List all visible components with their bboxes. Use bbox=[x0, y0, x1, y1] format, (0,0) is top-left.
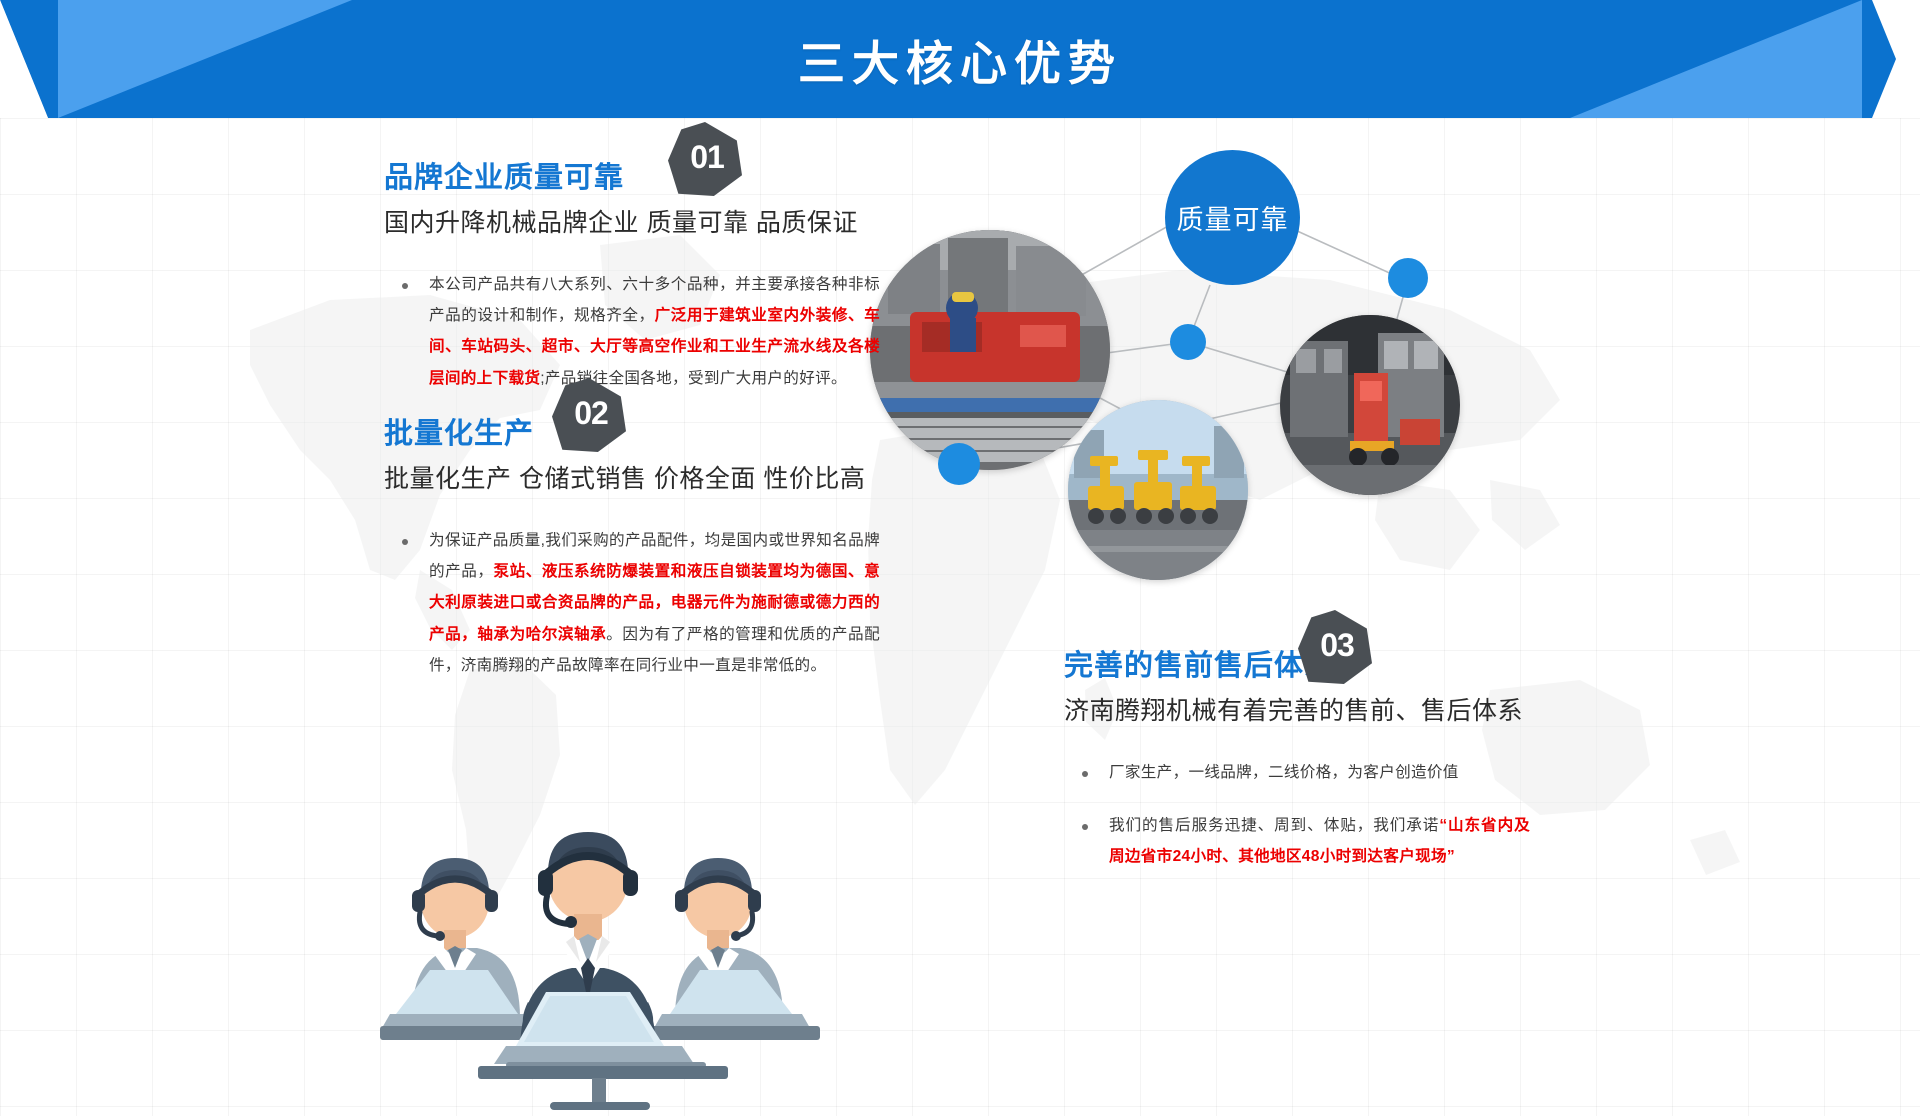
advantage-section-02: 批量化生产 02 批量化生产 仓储式销售 价格全面 性价比高 为保证产品质量,我… bbox=[380, 396, 940, 703]
section-03-bullet-list: 厂家生产，一线品牌，二线价格，为客户创造价值 我们的售后服务迅捷、周到、体贴，我… bbox=[1060, 757, 1620, 873]
section-03-subtitle: 济南腾翔机械有着完善的售前、售后体系 bbox=[1064, 691, 1620, 727]
section-01-number-badge: 01 bbox=[668, 122, 742, 196]
list-item: 我们的售后服务迅捷、周到、体贴，我们承诺“山东省内及周边省市24小时、其他地区4… bbox=[1060, 810, 1530, 872]
section-01-bullet-list: 本公司产品共有八大系列、六十多个品种，并主要承接各种非标产品的设计和制作，规格齐… bbox=[380, 269, 940, 394]
section-01-head-row: 品牌企业质量可靠 01 bbox=[380, 140, 940, 196]
section-02-number: 02 bbox=[574, 395, 608, 432]
section-02-title: 批量化生产 bbox=[384, 410, 534, 452]
page-title: 三大核心优势 bbox=[0, 0, 1920, 118]
page-header-banner: 三大核心优势 bbox=[0, 0, 1920, 118]
list-item: 厂家生产，一线品牌，二线价格，为客户创造价值 bbox=[1060, 757, 1530, 788]
section-01-title: 品牌企业质量可靠 bbox=[384, 154, 624, 196]
advantage-section-03: 完善的售前售后体系 03 济南腾翔机械有着完善的售前、售后体系 厂家生产，一线品… bbox=[1060, 628, 1620, 895]
section-01-number: 01 bbox=[690, 139, 724, 176]
advantage-section-01: 品牌企业质量可靠 01 国内升降机械品牌企业 质量可靠 品质保证 本公司产品共有… bbox=[380, 140, 940, 416]
section-02-subtitle: 批量化生产 仓储式销售 价格全面 性价比高 bbox=[384, 459, 940, 495]
body-text: 我们的售后服务迅捷、周到、体贴，我们承诺 bbox=[1109, 817, 1439, 834]
section-03-head-row: 完善的售前售后体系 03 bbox=[1060, 628, 1620, 684]
section-02-bullet-list: 为保证产品质量,我们采购的产品配件，均是国内或世界知名品牌的产品，泵站、液压系统… bbox=[380, 525, 940, 681]
list-item: 本公司产品共有八大系列、六十多个品种，并主要承接各种非标产品的设计和制作，规格齐… bbox=[380, 269, 880, 394]
section-03-title: 完善的售前售后体系 bbox=[1064, 642, 1334, 684]
body-text: 厂家生产，一线品牌，二线价格，为客户创造价值 bbox=[1109, 764, 1459, 781]
section-03-number-badge: 03 bbox=[1298, 610, 1372, 684]
content-area: 品牌企业质量可靠 01 国内升降机械品牌企业 质量可靠 品质保证 本公司产品共有… bbox=[0, 118, 1920, 1116]
section-02-head-row: 批量化生产 02 bbox=[380, 396, 940, 452]
section-03-number: 03 bbox=[1320, 627, 1354, 664]
section-01-subtitle: 国内升降机械品牌企业 质量可靠 品质保证 bbox=[384, 203, 940, 239]
list-item: 为保证产品质量,我们采购的产品配件，均是国内或世界知名品牌的产品，泵站、液压系统… bbox=[380, 525, 880, 681]
